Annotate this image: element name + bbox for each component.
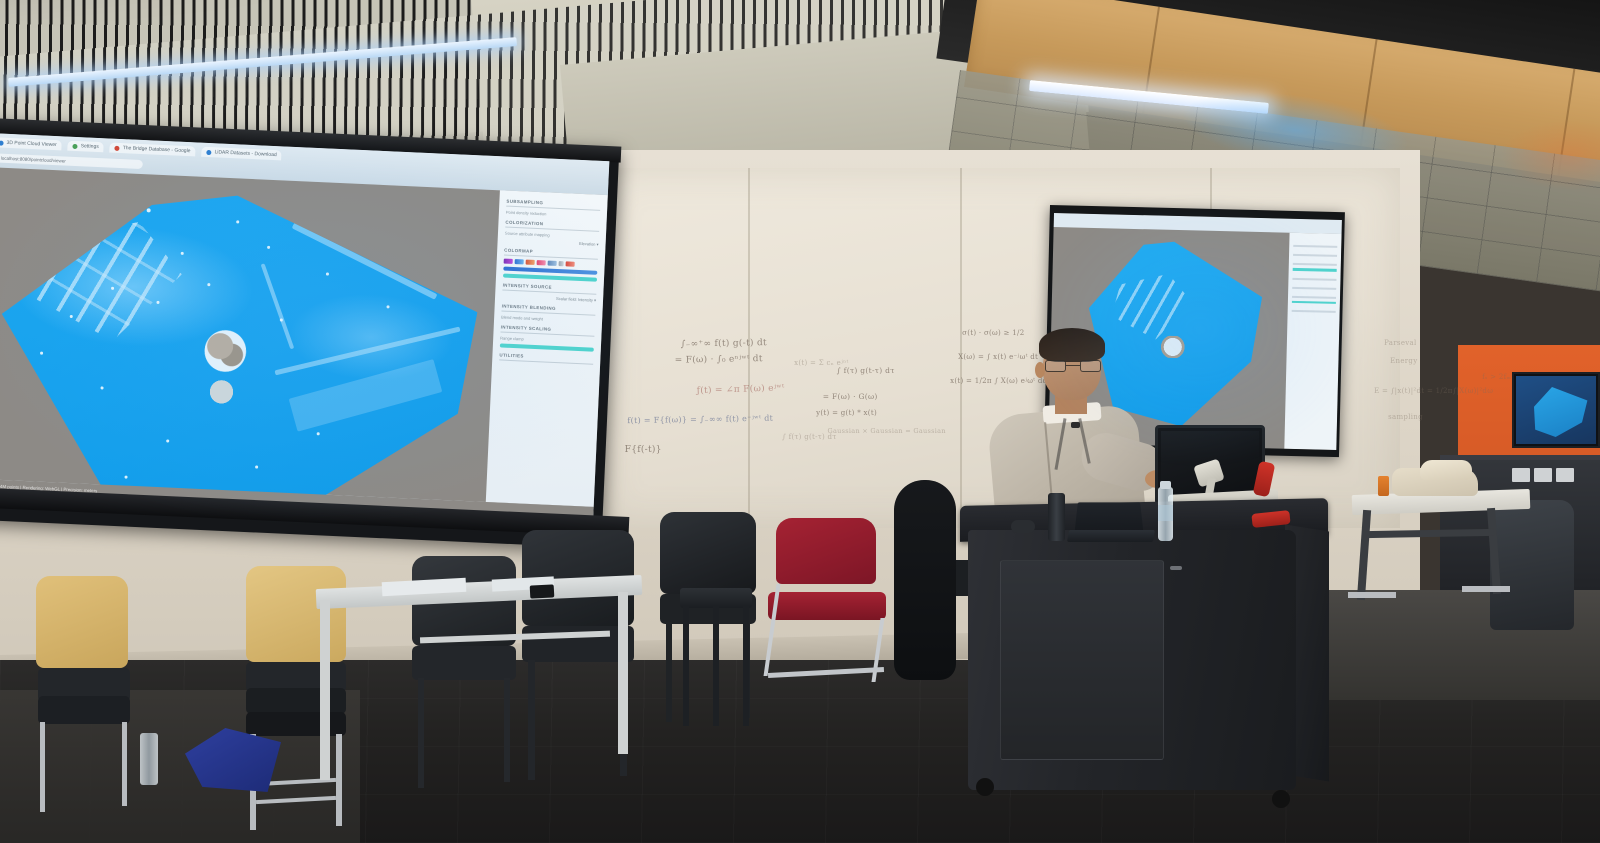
wall-outlet-2 (1534, 468, 1552, 482)
podium-laptop-keyboard (1067, 530, 1155, 542)
colormap-swatch[interactable] (559, 261, 564, 266)
browser-tab-label: Settings (81, 143, 99, 150)
browser-tab-0[interactable]: 3D Point Cloud Viewer (0, 137, 62, 150)
colormap-swatch[interactable] (526, 260, 535, 265)
podium-caster-left (976, 778, 994, 796)
browser-tab-3[interactable]: LiDAR Datasets - Download (201, 147, 282, 161)
orange-beverage-can (1378, 476, 1389, 496)
whiteboard-notes-right-2: Energy (1380, 348, 1417, 376)
floor-water-bottle (140, 733, 158, 785)
ceiling-orange-reflection (1500, 120, 1600, 190)
podium-front-panel (1000, 560, 1164, 760)
black-jacket (894, 480, 956, 680)
wall-outlet-1 (1512, 468, 1530, 482)
wall-outlet-3 (1556, 468, 1574, 482)
whiteboard-notes-left-5: F{f(-t)} (612, 432, 662, 468)
training-table-leg-left (320, 600, 330, 780)
point-cloud-buildings (29, 217, 184, 344)
point-cloud-render[interactable] (0, 181, 487, 521)
point-cloud-center-cluster (197, 327, 253, 375)
browser-tab-label: 3D Point Cloud Viewer (6, 140, 56, 148)
whiteboard-notes-right-4: sampling (1378, 404, 1423, 432)
water-bottle-label (1158, 505, 1173, 521)
section-sub: Blend mode and weight (501, 314, 595, 323)
globe-icon (0, 140, 4, 145)
stool-seat (680, 588, 752, 608)
presenter-hair (1039, 328, 1105, 362)
table-device (530, 584, 555, 598)
colormap-opacity-slider[interactable] (503, 274, 597, 282)
podium-caster-right (1272, 790, 1290, 808)
red-cantilever-chair (768, 518, 888, 678)
whiteboard-notes-right-5: fₛ > 2fₘ (1472, 364, 1511, 392)
metal-stool (680, 588, 752, 728)
download-icon (206, 149, 211, 154)
sidebar-section-intensity-source[interactable]: INTENSITY SOURCE Scalar field: Intensity… (502, 283, 597, 303)
sidebar-section-intensity-scaling[interactable]: INTENSITY SCALING Range clamp (500, 324, 595, 351)
travel-tumbler (1048, 493, 1065, 541)
browser-tab-label: The Bridge Database - Google (123, 145, 191, 154)
microphone-icon (1071, 422, 1080, 428)
podium-door-handle[interactable] (1170, 566, 1182, 570)
projection-screen-left: 3D Point Cloud Viewer Settings The Bridg… (0, 133, 609, 521)
flip-table-foot-left (1348, 592, 1396, 598)
viewer-settings-sidebar[interactable]: SUBSAMPLING Point density reduction COLO… (486, 190, 608, 507)
search-icon (115, 145, 120, 150)
colormap-swatch[interactable] (504, 259, 513, 264)
training-table-leg-right (618, 592, 628, 754)
glasses-icon (1045, 360, 1101, 372)
podium-mouse (1011, 520, 1035, 533)
stacked-wooden-chair-1 (36, 576, 128, 756)
intensity-scaling-slider[interactable] (500, 343, 594, 351)
whiteboard-notes-mid-5: Gaussian × Gaussian = Gaussian (818, 418, 946, 444)
whiteboard-notes-mid-9: ∫ f(τ) g(t-τ) dτ (772, 424, 837, 452)
screen-right-center-cluster (1160, 336, 1185, 359)
browser-tab-1[interactable]: Settings (68, 141, 104, 153)
sidebar-section-intensity-blending[interactable]: INTENSITY BLENDING Blend mode and weight (501, 303, 596, 323)
sidebar-section-colormap[interactable]: COLORMAP (503, 248, 598, 282)
colormap-swatch[interactable] (566, 261, 575, 266)
sidebar-section-subsampling[interactable]: SUBSAMPLING Point density reduction (506, 199, 601, 219)
wall-tv-point-cloud (1528, 386, 1588, 438)
point-cloud-secondary-cluster (206, 379, 237, 404)
right-office-chair (1490, 500, 1574, 630)
sidebar-section-utilities[interactable]: UTILITIES (499, 352, 593, 364)
water-bottle-cap (1160, 481, 1171, 489)
section-sub: Point density reduction (506, 210, 600, 219)
lecture-hall-photo: ∫₋∞⁺∞ f(t) g(-t) dt = F(ω) · ∫₀ eⁿʲʷᵗ dt… (0, 0, 1600, 843)
presenter-ear (1035, 362, 1045, 378)
flip-table-foot-right (1462, 586, 1510, 592)
colormap-swatch[interactable] (515, 259, 524, 264)
browser-tab-2[interactable]: The Bridge Database - Google (110, 143, 196, 157)
paper-bags-secondary (1420, 460, 1472, 480)
wall-mounted-display (1512, 372, 1600, 448)
wall-tv-screen (1516, 376, 1596, 444)
pointcloud-viewport[interactable]: SUBSAMPLING Point density reduction COLO… (0, 167, 608, 507)
gear-icon (73, 143, 78, 148)
screen-right-sidebar (1284, 233, 1341, 450)
colormap-swatch[interactable] (537, 260, 546, 265)
intensity-source-select[interactable]: Scalar field: Intensity ▾ (502, 293, 596, 302)
browser-tab-label: LiDAR Datasets - Download (214, 149, 276, 158)
sidebar-section-colorization[interactable]: COLORIZATION Source attribute mapping El… (505, 220, 600, 247)
colormap-swatch[interactable] (548, 261, 557, 266)
